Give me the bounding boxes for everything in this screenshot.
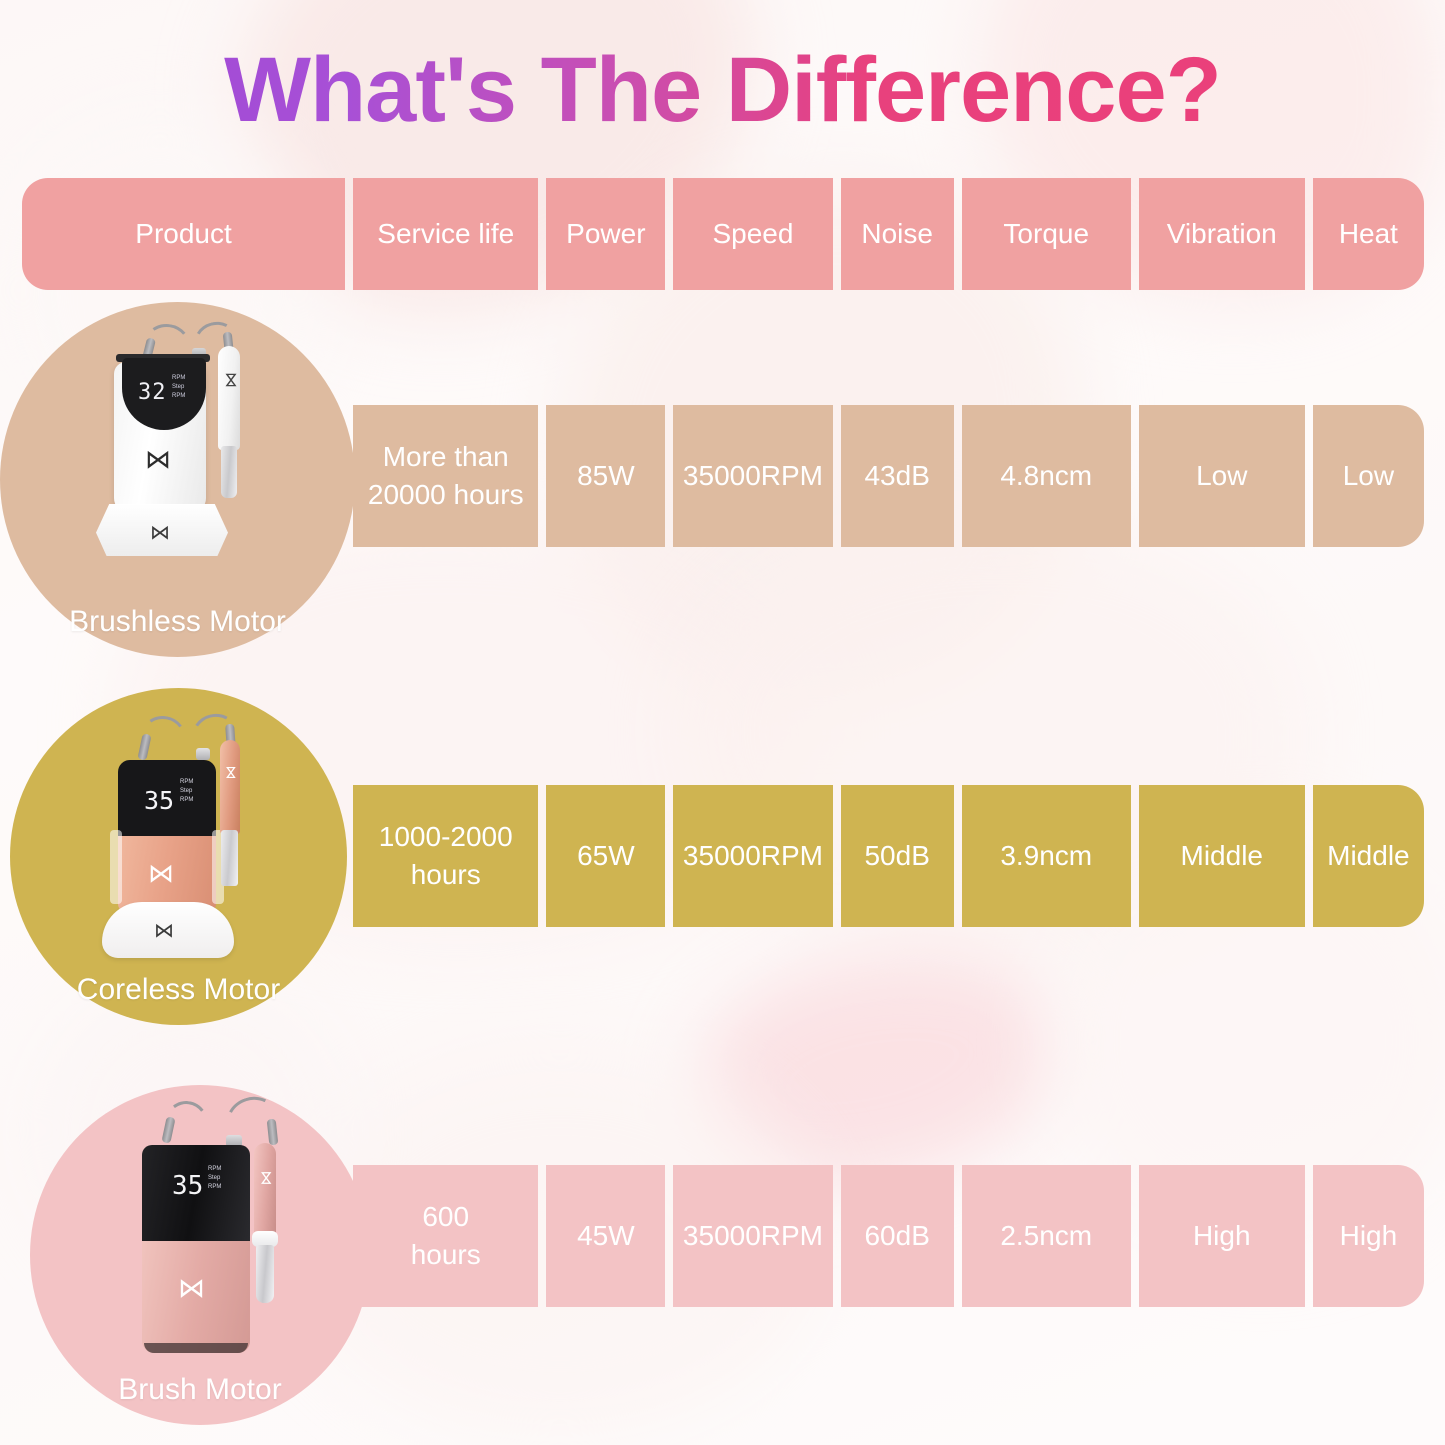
cell-noise: 50dB xyxy=(841,785,954,927)
page-title: What's The Difference? xyxy=(0,40,1445,141)
comparison-infographic: What's The Difference? 32 RPMStepRPM ⋈ ⋈… xyxy=(0,0,1445,1445)
cell-heat: Low xyxy=(1313,405,1424,547)
header-cell-heat: Heat xyxy=(1313,178,1424,290)
cell-vibration: Low xyxy=(1139,405,1305,547)
brand-logo-icon: ⋈ xyxy=(154,918,174,943)
cell-heat: Middle xyxy=(1313,785,1424,927)
brand-logo-icon: ⋈ xyxy=(150,520,170,545)
product-label-coreless: Coreless Motor xyxy=(77,973,280,1007)
lcd-sublabels: RPMStepRPM xyxy=(208,1165,221,1192)
brand-logo-icon: ⋈ xyxy=(178,1273,205,1304)
handpiece xyxy=(220,740,240,834)
cell-service-life-line1: More than xyxy=(383,441,509,472)
cell-heat: High xyxy=(1313,1165,1424,1307)
cell-power: 45W xyxy=(546,1165,665,1307)
cell-service-life: 1000-2000 hours xyxy=(353,785,538,927)
cell-service-life-line1: 600 xyxy=(422,1201,469,1232)
cell-service-life-line2: hours xyxy=(411,1239,481,1270)
device-foot xyxy=(144,1343,248,1353)
header-cell-product: Product xyxy=(22,178,345,290)
product-label-brush: Brush Motor xyxy=(118,1373,281,1407)
cell-power: 65W xyxy=(546,785,665,927)
brand-logo-icon: ⋈ xyxy=(221,372,241,388)
header-cell-service-life: Service life xyxy=(353,178,538,290)
cell-torque: 2.5ncm xyxy=(962,1165,1131,1307)
handpiece xyxy=(218,346,240,450)
cell-noise: 43dB xyxy=(841,405,954,547)
brand-logo-icon: ⋈ xyxy=(145,446,171,472)
brand-logo-icon: ⋈ xyxy=(148,858,174,889)
table-header-row: Product Service life Power Speed Noise T… xyxy=(22,178,1424,290)
cell-torque: 3.9ncm xyxy=(962,785,1131,927)
device-image-coreless: 35 RPMStepRPM ⋈ ⋈ ⋈ xyxy=(88,712,288,974)
device-image-brush: 35 RPMStepRPM ⋈ ⋈ xyxy=(108,1103,308,1371)
knob-icon xyxy=(196,748,210,760)
cell-vibration: High xyxy=(1139,1165,1305,1307)
cell-service-life-line1: 1000-2000 xyxy=(379,821,513,852)
cell-speed: 35000RPM xyxy=(673,1165,832,1307)
lcd-sublabels: RPMStepRPM xyxy=(172,374,185,401)
device-clip xyxy=(110,830,122,904)
brand-logo-icon: ⋈ xyxy=(258,1171,276,1186)
lcd-value: 32 xyxy=(138,380,167,405)
device-image-brushless: 32 RPMStepRPM ⋈ ⋈ ⋈ xyxy=(88,324,288,584)
lcd-value: 35 xyxy=(144,786,174,815)
handpiece-tip xyxy=(221,830,238,886)
cell-speed: 35000RPM xyxy=(673,785,832,927)
cell-service-life-line2: hours xyxy=(411,859,481,890)
header-cell-noise: Noise xyxy=(841,178,954,290)
cell-torque: 4.8ncm xyxy=(962,405,1131,547)
handpiece-tip xyxy=(221,446,237,498)
cell-noise: 60dB xyxy=(841,1165,954,1307)
handpiece xyxy=(254,1143,276,1235)
header-cell-vibration: Vibration xyxy=(1139,178,1305,290)
handpiece-tip xyxy=(256,1245,274,1303)
lcd-value: 35 xyxy=(172,1171,203,1201)
header-cell-torque: Torque xyxy=(962,178,1131,290)
cell-power: 85W xyxy=(546,405,665,547)
cell-service-life: 600 hours xyxy=(353,1165,538,1307)
lcd-sublabels: RPMStepRPM xyxy=(180,778,193,805)
cell-speed: 35000RPM xyxy=(673,405,832,547)
cell-vibration: Middle xyxy=(1139,785,1305,927)
product-label-brushless: Brushless Motor xyxy=(69,605,286,639)
brand-logo-icon: ⋈ xyxy=(223,766,240,780)
header-cell-power: Power xyxy=(546,178,665,290)
cell-service-life: More than 20000 hours xyxy=(353,405,538,547)
header-cell-speed: Speed xyxy=(673,178,832,290)
cell-service-life-line2: 20000 hours xyxy=(368,479,524,510)
